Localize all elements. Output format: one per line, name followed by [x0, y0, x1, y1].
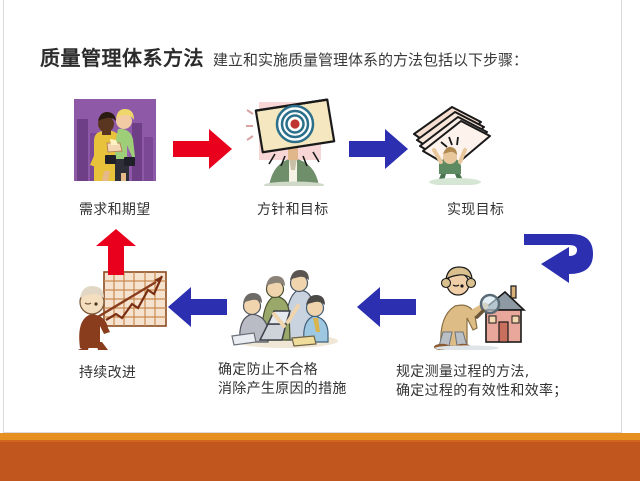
footer-band — [0, 433, 640, 481]
caption-continual-improvement: 持续改进 — [79, 364, 229, 383]
caption-measure-process: 规定测量过程的方法, 确定过程的有效性和效率； — [396, 363, 636, 401]
caption-prevent-nonconformance: 确定防止不合格 消除产生原因的措施 — [218, 361, 398, 399]
arrow-left-blue-left — [168, 286, 228, 328]
page-title: 质量管理体系方法 建立和实施质量管理体系的方法包括以下步骤： — [40, 42, 528, 71]
arrow-up-red — [94, 228, 138, 276]
slide-canvas: 质量管理体系方法 建立和实施质量管理体系的方法包括以下步骤： — [0, 0, 640, 481]
arrow-right-red — [173, 127, 233, 171]
caption-needs-expectations: 需求和期望 — [79, 201, 219, 220]
footer-stripe-edge — [0, 440, 640, 442]
image-handshake-two-people — [74, 99, 156, 181]
footer-stripe-light — [0, 433, 640, 440]
image-person-carrying-documents — [405, 100, 500, 185]
image-team-meeting-laptop — [228, 256, 343, 348]
arrow-left-blue-right — [357, 286, 417, 328]
arrow-right-blue — [349, 128, 409, 170]
caption-achieve-objectives: 实现目标 — [447, 201, 587, 220]
title-heading: 质量管理体系方法 — [40, 42, 204, 71]
caption-policy-objectives: 方针和目标 — [257, 201, 397, 220]
footer-stripe-main — [0, 440, 640, 481]
image-inspector-magnifier-house — [427, 258, 527, 350]
title-subheading: 建立和实施质量管理体系的方法包括以下步骤： — [213, 49, 528, 70]
image-person-holding-target-paper — [245, 96, 343, 186]
image-person-pointing-growth-chart — [68, 270, 168, 350]
